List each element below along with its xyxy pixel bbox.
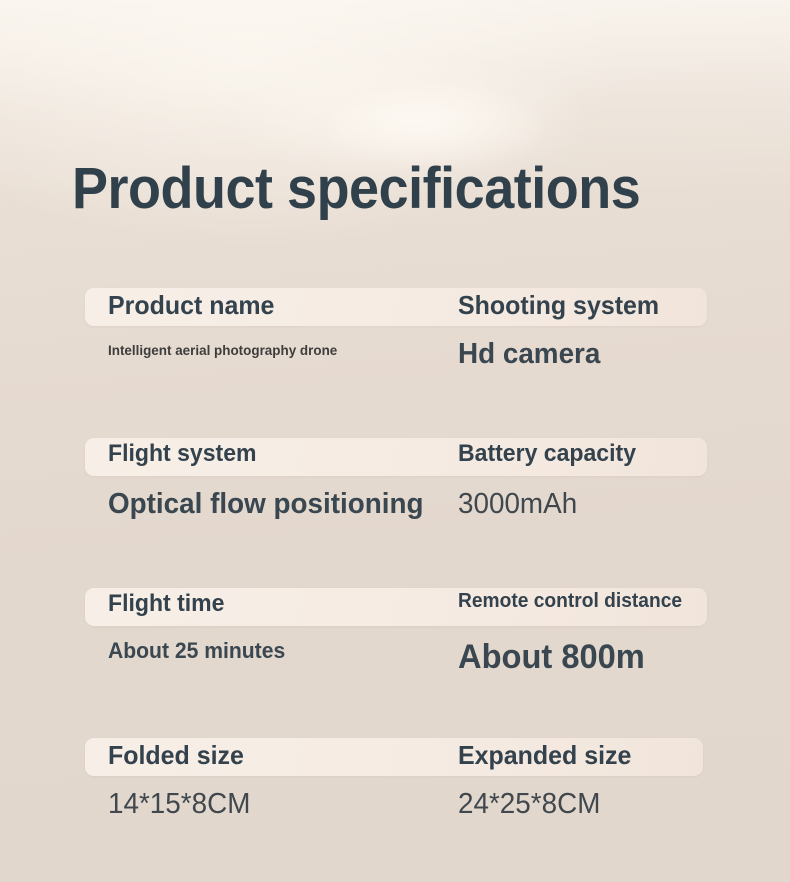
spec-value-left: About 25 minutes [108, 638, 285, 664]
spec-value-right: 24*25*8CM [458, 788, 600, 821]
spec-row: Product name Shooting system Intelligent… [0, 280, 790, 430]
spec-value-right: Hd camera [458, 338, 600, 371]
spec-value-left: 14*15*8CM [108, 788, 250, 821]
spec-value-left: Intelligent aerial photography drone [108, 342, 337, 358]
spec-row: Flight time Remote control distance Abou… [0, 580, 790, 730]
spec-value-left: Optical flow positioning [108, 488, 424, 521]
spec-label-left: Product name [108, 290, 274, 321]
spec-label-right: Shooting system [458, 290, 659, 321]
spec-label-left: Flight time [108, 590, 224, 618]
specifications-table: Product name Shooting system Intelligent… [0, 280, 790, 880]
product-specifications-page: Product specifications Product name Shoo… [0, 0, 790, 882]
spec-label-right: Battery capacity [458, 440, 636, 468]
spec-label-right: Remote control distance [458, 590, 682, 613]
spec-label-left: Flight system [108, 440, 257, 468]
spec-row: Folded size Expanded size 14*15*8CM 24*2… [0, 730, 790, 880]
spec-label-right: Expanded size [458, 740, 631, 771]
page-title: Product specifications [72, 160, 640, 218]
spec-label-left: Folded size [108, 740, 244, 771]
background-highlight-blob [330, 85, 540, 165]
spec-row: Flight system Battery capacity Optical f… [0, 430, 790, 580]
spec-value-right: 3000mAh [458, 488, 577, 521]
spec-value-right: About 800m [458, 638, 645, 677]
